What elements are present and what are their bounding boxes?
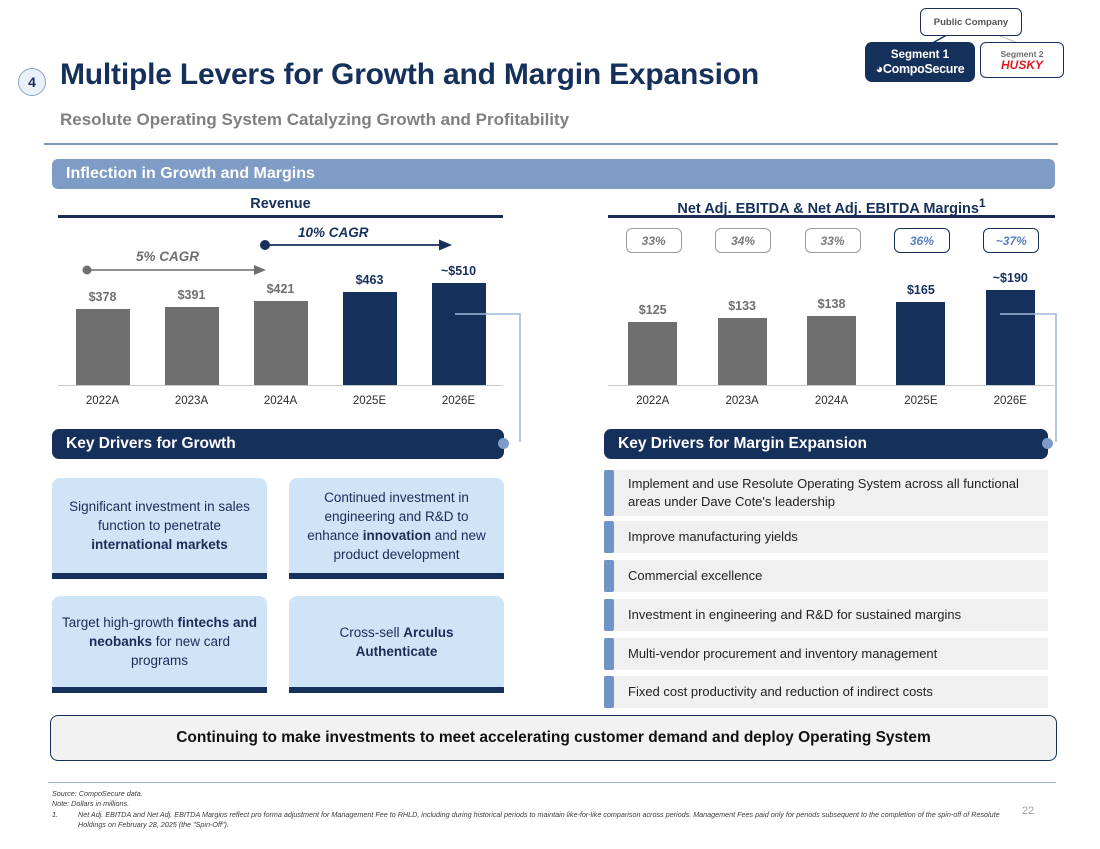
x-axis-label-2022A: 2022A — [58, 395, 148, 407]
public-company-label: Public Company — [934, 17, 1008, 28]
bar-2024A — [254, 301, 308, 385]
bar-2022A — [628, 322, 677, 385]
page-number: 22 — [1022, 805, 1034, 817]
margin-driver-accent-bar — [604, 676, 614, 708]
bar-value-label-2022A: $125 — [608, 303, 698, 317]
footnote-text: Net Adj. EBITDA and Net Adj. EBITDA Marg… — [78, 810, 1018, 830]
revenue-chart-title: Revenue — [58, 196, 503, 212]
bar-value-label-2023A: $391 — [147, 288, 237, 302]
revenue-chart: $3782022A$3912023A$4212024A$4632025E~$51… — [58, 225, 503, 410]
growth-card-3-footer — [289, 687, 504, 693]
growth-card-0-bold: international markets — [91, 537, 228, 552]
margin-drivers-heading: Key Drivers for Margin Expansion — [604, 435, 867, 453]
margin-badge-2025E: 36% — [894, 228, 950, 253]
bar-value-label-2026E: ~$510 — [414, 264, 504, 278]
margin-badge-2022A: 33% — [626, 228, 682, 253]
bottom-banner-text: Continuing to make investments to meet a… — [176, 729, 931, 747]
margin-driver-row[interactable]: Commercial excellence — [604, 560, 1048, 592]
x-axis-label-2022A: 2022A — [608, 395, 698, 407]
cagr-annotation-0: 5% CAGR — [136, 249, 199, 264]
margin-driver-row[interactable]: Improve manufacturing yields — [604, 521, 1048, 553]
segment-logo-cluster: Public Company Segment 1 ◕CompoSecure Se… — [860, 4, 1096, 88]
x-axis-label-2024A: 2024A — [236, 395, 326, 407]
bar-2023A — [718, 318, 767, 385]
growth-card-1[interactable]: Continued investment in engineering and … — [289, 478, 504, 573]
margin-connector-dot — [1042, 438, 1053, 449]
revenue-chart-underline — [58, 215, 503, 218]
margin-badge-2026E: ~37% — [983, 228, 1039, 253]
growth-card-3[interactable]: Cross-sell Arculus Authenticate — [289, 596, 504, 687]
segment1-brand-text: CompoSecure — [883, 62, 964, 76]
margin-driver-accent-bar — [604, 470, 614, 516]
growth-drivers-heading: Key Drivers for Growth — [52, 435, 236, 453]
ebitda-chart-baseline — [608, 385, 1055, 386]
bottom-banner: Continuing to make investments to meet a… — [50, 715, 1057, 761]
bar-2022A — [76, 309, 130, 385]
growth-card-1-footer — [289, 573, 504, 579]
margin-driver-accent-bar — [604, 521, 614, 553]
ebitda-chart-title-superscript: 1 — [979, 196, 986, 210]
x-axis-label-2023A: 2023A — [697, 395, 787, 407]
margin-driver-text: Implement and use Resolute Operating Sys… — [614, 475, 1048, 511]
segment1-brand: ◕CompoSecure — [876, 62, 965, 76]
growth-card-3-pre: Cross-sell — [339, 625, 403, 640]
growth-connector-dot — [498, 438, 509, 449]
public-company-badge: Public Company — [920, 8, 1022, 36]
bar-value-label-2024A: $421 — [236, 282, 326, 296]
section-band: Inflection in Growth and Margins — [52, 159, 1055, 189]
margin-drivers-header: Key Drivers for Margin Expansion — [604, 429, 1048, 459]
margin-badge-2023A: 34% — [715, 228, 771, 253]
x-axis-label-2023A: 2023A — [147, 395, 237, 407]
ebitda-chart-underline — [608, 215, 1055, 218]
margin-driver-accent-bar — [604, 599, 614, 631]
slide-number-badge: 4 — [18, 68, 46, 96]
ebitda-chart: $1252022A33%$1332023A34%$1382024A33%$165… — [608, 225, 1055, 410]
page-title: Multiple Levers for Growth and Margin Ex… — [60, 58, 759, 92]
ebitda-chart-title: Net Adj. EBITDA & Net Adj. EBITDA Margin… — [608, 196, 1055, 217]
margin-driver-row[interactable]: Investment in engineering and R&D for su… — [604, 599, 1048, 631]
bar-2023A — [165, 307, 219, 385]
growth-card-2-text: Target high-growth fintechs and neobanks… — [61, 613, 258, 670]
segment2-brand: HUSKY — [1001, 59, 1043, 72]
cagr-annotation-1: 10% CAGR — [298, 225, 369, 240]
ebitda-to-margin-connector — [1000, 300, 1062, 450]
margin-badge-2024A: 33% — [805, 228, 861, 253]
bar-value-label-2022A: $378 — [58, 290, 148, 304]
growth-card-0[interactable]: Significant investment in sales function… — [52, 478, 267, 573]
revenue-to-growth-connector — [455, 300, 525, 450]
footer-source: Source: CompoSecure data. — [52, 789, 143, 799]
x-axis-label-2025E: 2025E — [325, 395, 415, 407]
growth-card-1-bold: innovation — [363, 528, 431, 543]
margin-driver-row[interactable]: Fixed cost productivity and reduction of… — [604, 676, 1048, 708]
margin-driver-accent-bar — [604, 560, 614, 592]
growth-card-2-footer — [52, 687, 267, 693]
margin-driver-text: Investment in engineering and R&D for su… — [614, 606, 969, 624]
page-subtitle: Resolute Operating System Catalyzing Gro… — [60, 110, 569, 130]
segment1-badge: Segment 1 ◕CompoSecure — [865, 42, 975, 82]
margin-driver-row[interactable]: Multi-vendor procurement and inventory m… — [604, 638, 1048, 670]
margin-driver-text: Commercial excellence — [614, 567, 770, 585]
segment2-label: Segment 2 — [1001, 49, 1044, 59]
growth-card-0-footer — [52, 573, 267, 579]
section-band-label: Inflection in Growth and Margins — [52, 165, 315, 183]
bar-2024A — [807, 316, 856, 385]
segment2-badge: Segment 2 HUSKY — [980, 42, 1064, 78]
margin-driver-text: Multi-vendor procurement and inventory m… — [614, 645, 945, 663]
growth-card-3-text: Cross-sell Arculus Authenticate — [298, 623, 495, 661]
x-axis-label-2025E: 2025E — [876, 395, 966, 407]
growth-card-1-text: Continued investment in engineering and … — [298, 488, 495, 564]
margin-driver-text: Fixed cost productivity and reduction of… — [614, 683, 941, 701]
margin-driver-text: Improve manufacturing yields — [614, 528, 806, 546]
bar-2025E — [343, 292, 397, 385]
segment1-label: Segment 1 — [891, 49, 949, 62]
footnote-number: 1. — [52, 810, 58, 819]
header-divider — [44, 143, 1058, 145]
footer-divider — [48, 782, 1056, 783]
bar-value-label-2026E: ~$190 — [965, 271, 1055, 285]
x-axis-label-2024A: 2024A — [787, 395, 877, 407]
bar-value-label-2025E: $463 — [325, 273, 415, 287]
margin-driver-accent-bar — [604, 638, 614, 670]
margin-driver-row[interactable]: Implement and use Resolute Operating Sys… — [604, 470, 1048, 516]
bar-value-label-2024A: $138 — [787, 297, 877, 311]
growth-drivers-header: Key Drivers for Growth — [52, 429, 504, 459]
bar-value-label-2025E: $165 — [876, 283, 966, 297]
growth-card-0-pre: Significant investment in sales function… — [69, 499, 250, 533]
growth-card-0-text: Significant investment in sales function… — [61, 497, 258, 554]
growth-card-2[interactable]: Target high-growth fintechs and neobanks… — [52, 596, 267, 687]
slide: 4 Multiple Levers for Growth and Margin … — [0, 0, 1100, 849]
growth-card-2-pre: Target high-growth — [62, 615, 178, 630]
bar-value-label-2023A: $133 — [697, 299, 787, 313]
bar-2025E — [896, 302, 945, 385]
footer-note: Note: Dollars in millions. — [52, 799, 129, 809]
